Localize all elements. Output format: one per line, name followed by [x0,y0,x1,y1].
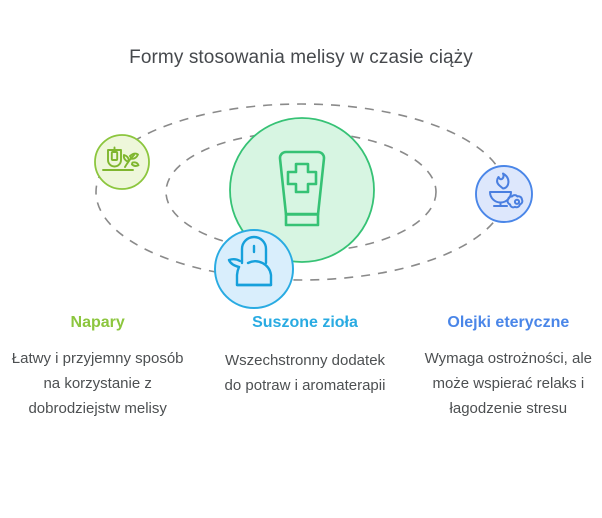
column-heading-suszone-ziola: Suszone zioła [217,312,392,334]
orbit-node-oil[interactable] [476,166,532,222]
column-napary: Napary Łatwy i przyjemny sposób na korzy… [0,312,195,421]
column-body-napary: Łatwy i przyjemny sposób na korzystanie … [10,346,185,421]
column-heading-olejki-eteryczne: Olejki eteryczne [421,312,596,334]
column-body-suszone-ziola: Wszechstronny dodatek do potraw i aromat… [217,348,392,398]
description-columns: Napary Łatwy i przyjemny sposób na korzy… [0,312,602,512]
tea-circle [95,135,149,189]
infographic-root: Formy stosowania melisy w czasie ciąży [0,0,602,518]
column-heading-napary: Napary [10,312,185,334]
kettle-circle [215,230,293,308]
column-olejki-eteryczne: Olejki eteryczne Wymaga ostrożności, ale… [415,312,602,421]
orbit-diagram [0,100,602,310]
page-title: Formy stosowania melisy w czasie ciąży [0,47,602,69]
column-suszone-ziola: Suszone zioła Wszechstronny dodatek do p… [195,312,414,398]
orbit-node-kettle[interactable] [215,230,293,308]
orbit-node-tea[interactable] [95,135,149,189]
column-body-olejki-eteryczne: Wymaga ostrożności, ale może wspierać re… [421,346,596,421]
